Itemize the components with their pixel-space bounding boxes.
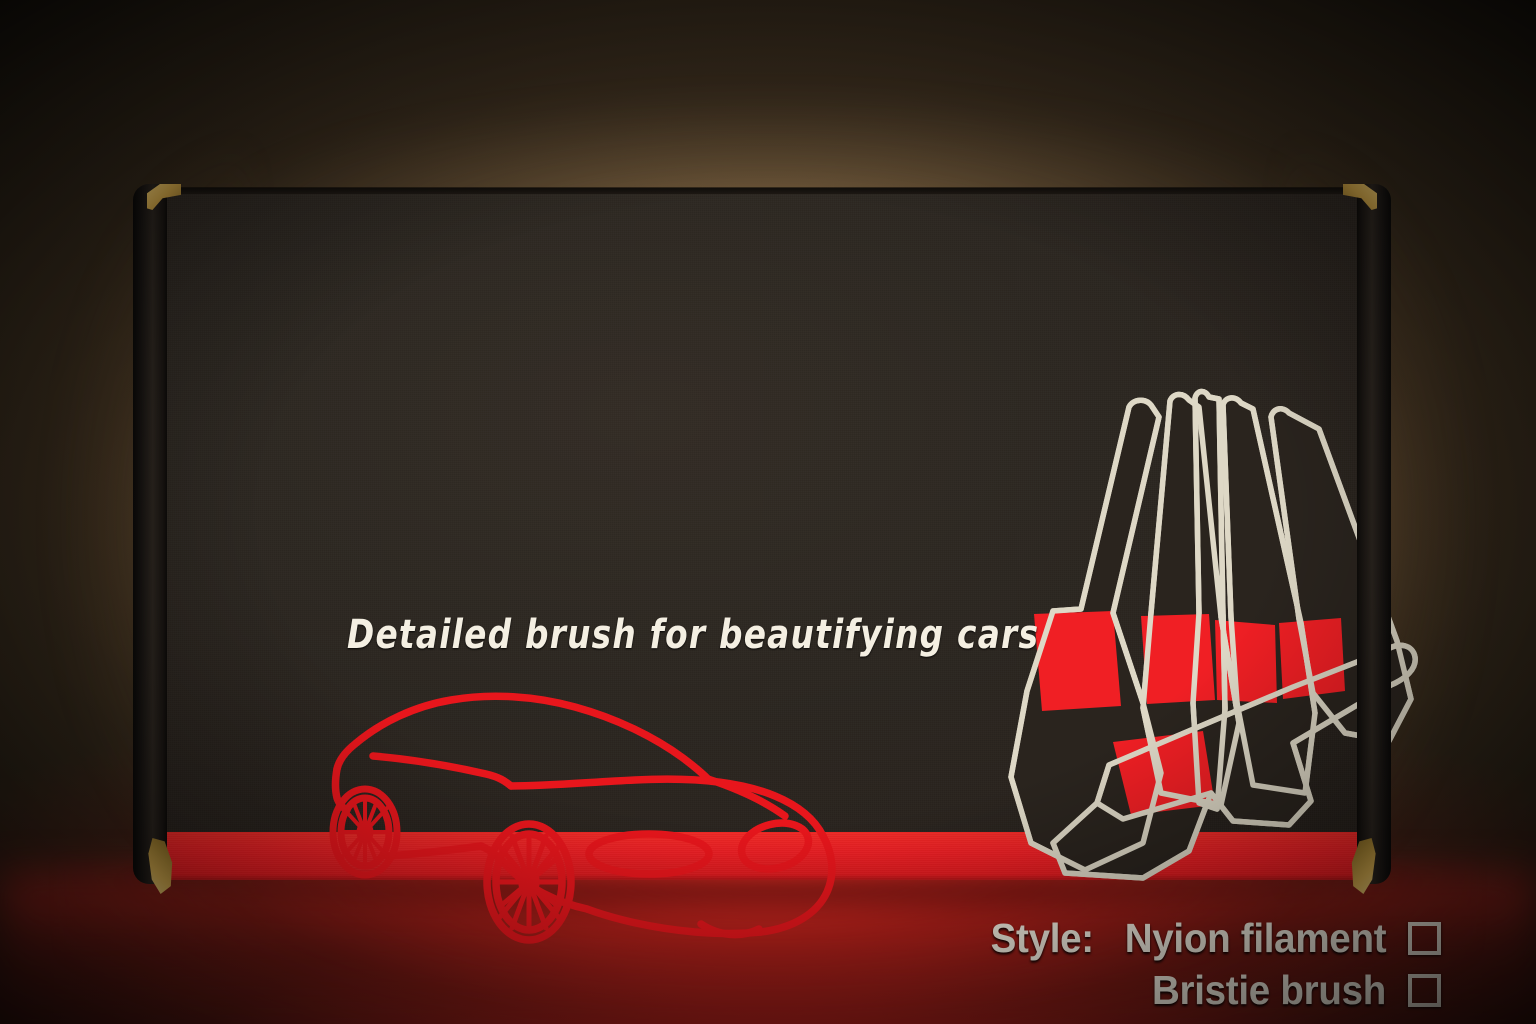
car-illustration	[323, 674, 843, 974]
style-option-label-bristie: Bristie brush	[1152, 967, 1386, 1014]
style-selector: Style: Nyion filament Bristie brush	[981, 912, 1441, 1016]
box-top-lip	[155, 188, 1369, 194]
box-left-spine	[133, 184, 167, 884]
tagline-text: Detailed brush for beautifying cars	[347, 612, 1039, 658]
style-row-nyion-filament[interactable]: Style: Nyion filament	[981, 912, 1441, 964]
style-option-label-nyion: Nyion filament	[1124, 915, 1386, 962]
box-right-spine	[1357, 184, 1391, 884]
checkbox-bristie-brush[interactable]	[1408, 974, 1441, 1007]
style-row-bristie-brush[interactable]: Bristie brush	[981, 964, 1441, 1016]
style-label: Style:	[990, 915, 1093, 962]
checkbox-nyion-filament[interactable]	[1408, 922, 1441, 955]
product-box: Detailed brush for beautifying cars Styl…	[133, 188, 1391, 880]
